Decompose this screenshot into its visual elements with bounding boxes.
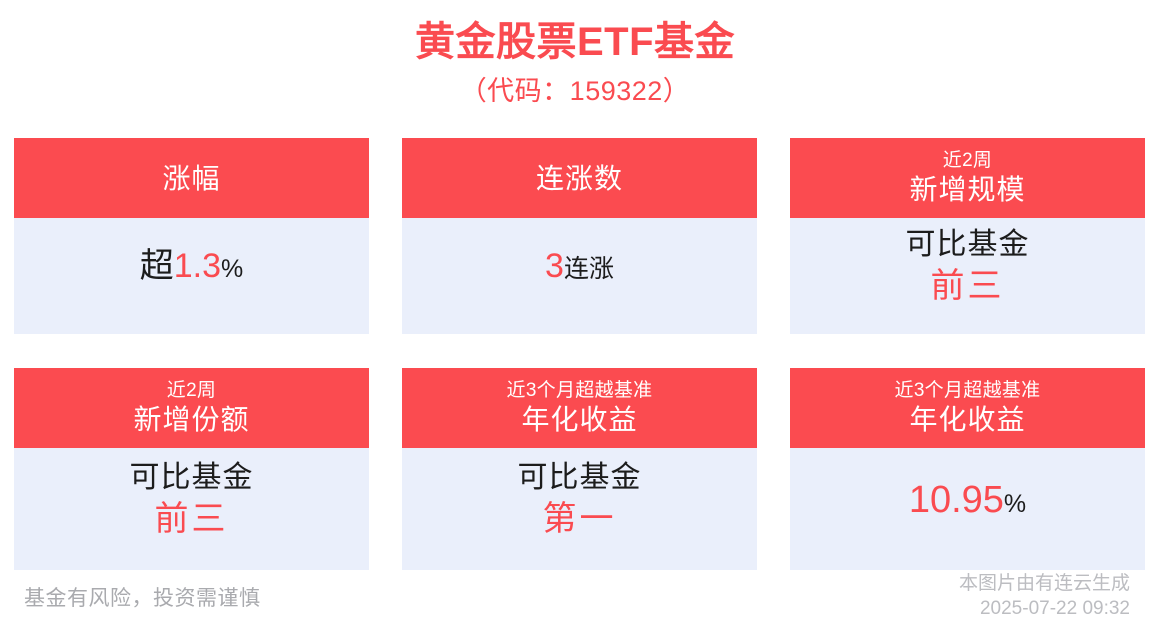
card-header-new-shares: 近2周 新增份额	[14, 368, 369, 448]
card-title-excess-return-rank: 年化收益	[521, 402, 637, 437]
etf-metrics-poster: 黄金股票ETF基金 （代码：159322） 涨幅 超1.3% 连涨数 3连涨 近…	[0, 0, 1150, 632]
card-title-excess-return-value: 年化收益	[909, 402, 1025, 437]
card-title-gain: 涨幅	[162, 161, 220, 196]
risk-disclaimer: 基金有风险，投资需谨慎	[24, 582, 261, 612]
card-eyebrow-excess-return-value: 近3个月超越基准	[895, 379, 1041, 403]
card-eyebrow-excess-return-rank: 近3个月超越基准	[507, 379, 653, 403]
metric-card-excess-return-value: 近3个月超越基准 年化收益 10.95%	[790, 368, 1145, 570]
new-scale-rank: 前三	[931, 266, 1005, 307]
card-body-new-scale: 可比基金 前三	[790, 218, 1145, 334]
metric-card-streak: 连涨数 3连涨	[402, 138, 757, 334]
new-shares-rank: 前三	[155, 499, 229, 540]
metric-card-grid: 涨幅 超1.3% 连涨数 3连涨 近2周 新增规模 可比基金 前三	[14, 138, 1136, 570]
excess-return-number: 10.95	[909, 479, 1004, 521]
card-body-excess-return-value: 10.95%	[790, 448, 1145, 570]
new-scale-peer-label: 可比基金	[906, 227, 1030, 264]
credit-timestamp: 2025-07-22 09:32	[959, 597, 1130, 622]
credit-source: 本图片由有连云生成	[959, 572, 1130, 597]
card-value-excess-return: 10.95%	[909, 477, 1026, 523]
excess-return-peer-label: 可比基金	[518, 460, 642, 497]
card-value-gain: 超1.3%	[140, 246, 244, 287]
card-eyebrow-new-shares: 近2周	[167, 379, 216, 403]
fund-code-label: （代码：159322）	[0, 73, 1150, 111]
card-header-excess-return-rank: 近3个月超越基准 年化收益	[402, 368, 757, 448]
card-header-excess-return-value: 近3个月超越基准 年化收益	[790, 368, 1145, 448]
card-body-new-shares: 可比基金 前三	[14, 448, 369, 570]
card-eyebrow-new-scale: 近2周	[943, 149, 992, 173]
card-header-streak: 连涨数	[402, 138, 757, 218]
generation-credit: 本图片由有连云生成 2025-07-22 09:32	[959, 572, 1130, 621]
streak-unit: 连涨	[564, 255, 614, 283]
gain-number: 1.3	[174, 247, 221, 285]
footer: 基金有风险，投资需谨慎 本图片由有连云生成 2025-07-22 09:32	[0, 570, 1150, 632]
card-body-gain: 超1.3%	[14, 218, 369, 334]
card-value-streak: 3连涨	[545, 246, 614, 287]
page-title: 黄金股票ETF基金	[0, 18, 1150, 67]
metric-card-gain: 涨幅 超1.3%	[14, 138, 369, 334]
title-block: 黄金股票ETF基金 （代码：159322）	[0, 0, 1150, 111]
excess-return-rank: 第一	[543, 499, 617, 540]
card-header-gain: 涨幅	[14, 138, 369, 218]
card-header-new-scale: 近2周 新增规模	[790, 138, 1145, 218]
streak-number: 3	[545, 247, 564, 285]
card-body-excess-return-rank: 可比基金 第一	[402, 448, 757, 570]
card-body-streak: 3连涨	[402, 218, 757, 334]
new-shares-peer-label: 可比基金	[130, 460, 254, 497]
card-title-streak: 连涨数	[536, 161, 623, 196]
gain-prefix: 超	[140, 247, 174, 285]
gain-unit: %	[221, 255, 243, 283]
metric-card-new-scale: 近2周 新增规模 可比基金 前三	[790, 138, 1145, 334]
excess-return-unit: %	[1004, 490, 1026, 518]
card-title-new-scale: 新增规模	[909, 172, 1025, 207]
metric-card-excess-return-rank: 近3个月超越基准 年化收益 可比基金 第一	[402, 368, 757, 570]
metric-card-new-shares: 近2周 新增份额 可比基金 前三	[14, 368, 369, 570]
card-title-new-shares: 新增份额	[133, 402, 249, 437]
